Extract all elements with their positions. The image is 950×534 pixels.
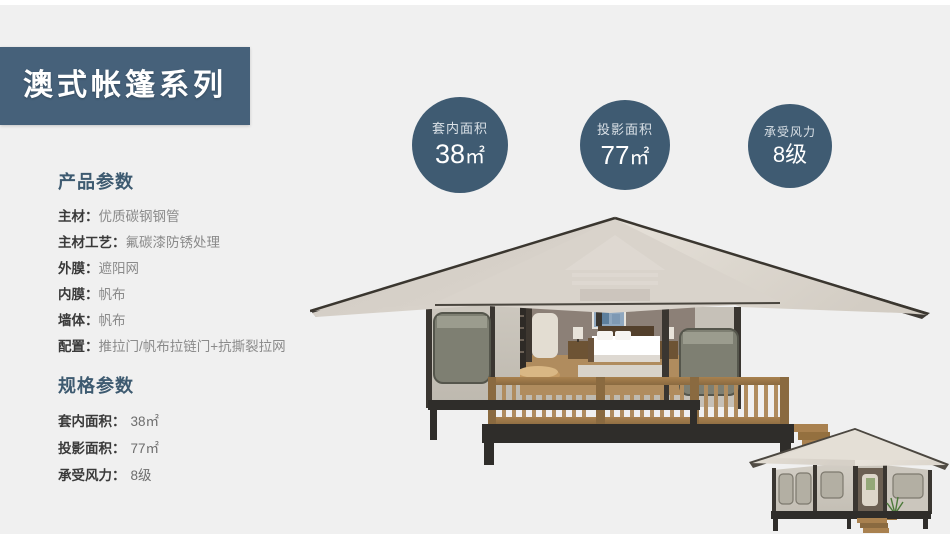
stat-circle-interior-area: 套内面积 38㎡ bbox=[412, 97, 508, 193]
spec-label: 套内面积： bbox=[58, 414, 126, 429]
stat-number: 38 bbox=[435, 139, 465, 169]
stat-label: 承受风力 bbox=[764, 126, 816, 138]
spec-row: 投影面积：77㎡ bbox=[58, 435, 159, 462]
stat-label: 套内面积 bbox=[432, 122, 488, 135]
param-value: 帆布 bbox=[99, 313, 126, 328]
stat-value: 38㎡ bbox=[435, 141, 485, 168]
stat-circle-projected-area: 投影面积 77㎡ bbox=[580, 100, 670, 190]
stat-circle-wind-resistance: 承受风力 8级 bbox=[748, 104, 832, 188]
param-label: 主材： bbox=[58, 209, 99, 224]
spec-row: 承受风力：8级 bbox=[58, 462, 159, 489]
top-white-strip bbox=[0, 0, 950, 5]
stat-value: 8级 bbox=[773, 144, 807, 166]
param-label: 外膜： bbox=[58, 261, 99, 276]
spec-value: 77㎡ bbox=[126, 441, 160, 456]
param-label: 墙体： bbox=[58, 313, 99, 328]
stat-number: 8级 bbox=[773, 142, 807, 167]
param-label: 内膜： bbox=[58, 287, 99, 302]
param-value: 氟碳漆防锈处理 bbox=[126, 235, 221, 250]
page-title: 澳式帐篷系列 bbox=[23, 71, 227, 101]
param-row: 墙体：帆布 bbox=[58, 308, 286, 334]
spec-value: 8级 bbox=[126, 468, 152, 483]
param-value: 优质碳钢钢管 bbox=[99, 209, 180, 224]
spec-label: 承受风力： bbox=[58, 468, 126, 483]
stat-unit: ㎡ bbox=[465, 146, 485, 168]
param-row: 主材工艺：氟碳漆防锈处理 bbox=[58, 230, 286, 256]
spec-row: 套内面积：38㎡ bbox=[58, 408, 159, 435]
stat-label: 投影面积 bbox=[597, 123, 653, 136]
spec-value: 38㎡ bbox=[126, 414, 160, 429]
spec-parameters-section: 规格参数 套内面积：38㎡ 投影面积：77㎡ 承受风力：8级 bbox=[58, 372, 159, 489]
param-row: 主材：优质碳钢钢管 bbox=[58, 204, 286, 230]
param-value: 遮阳网 bbox=[99, 261, 140, 276]
param-row: 配置：推拉门/帆布拉链门+抗撕裂拉网 bbox=[58, 334, 286, 360]
stat-number: 77 bbox=[601, 140, 630, 170]
param-row: 外膜：遮阳网 bbox=[58, 256, 286, 282]
param-value: 帆布 bbox=[99, 287, 126, 302]
param-row: 内膜：帆布 bbox=[58, 282, 286, 308]
product-parameters-section: 产品参数 主材：优质碳钢钢管 主材工艺：氟碳漆防锈处理 外膜：遮阳网 内膜：帆布… bbox=[58, 168, 286, 360]
stat-value: 77㎡ bbox=[601, 142, 650, 168]
spec-label: 投影面积： bbox=[58, 441, 126, 456]
product-parameters-heading: 产品参数 bbox=[58, 168, 286, 194]
stat-unit: ㎡ bbox=[629, 147, 649, 169]
title-banner: 澳式帐篷系列 bbox=[0, 47, 250, 125]
param-label: 配置： bbox=[58, 339, 99, 354]
slide-canvas: 澳式帐篷系列 产品参数 主材：优质碳钢钢管 主材工艺：氟碳漆防锈处理 外膜：遮阳… bbox=[0, 0, 950, 534]
tent-inset-illustration bbox=[735, 418, 950, 534]
param-label: 主材工艺： bbox=[58, 235, 126, 250]
spec-parameters-heading: 规格参数 bbox=[58, 372, 159, 398]
param-value: 推拉门/帆布拉链门+抗撕裂拉网 bbox=[99, 339, 286, 354]
